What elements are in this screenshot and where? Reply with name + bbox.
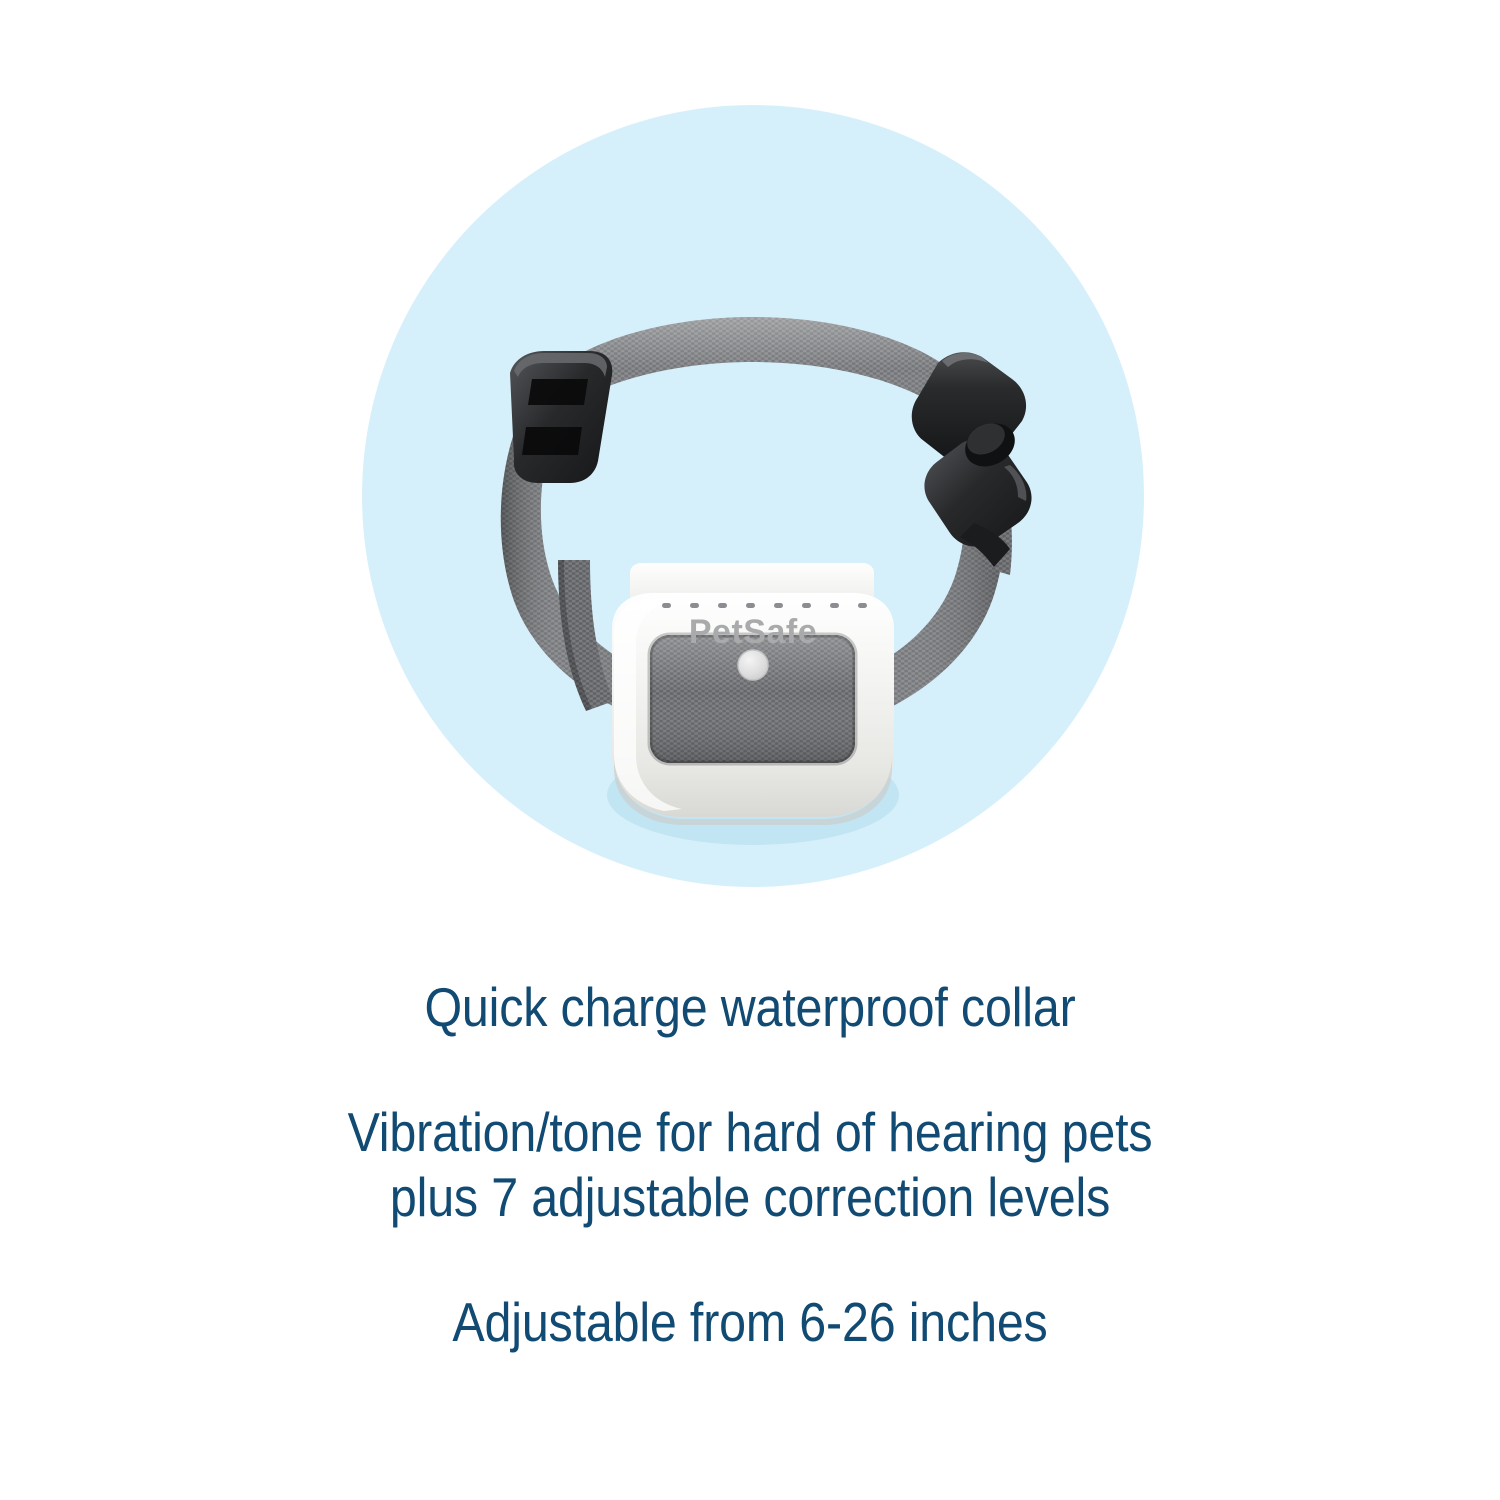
receiver-unit: PetSafe: [607, 563, 899, 845]
hero-product-image: PetSafe: [0, 0, 1500, 960]
brand-label: PetSafe: [689, 613, 817, 651]
collar-product-illustration: PetSafe: [362, 105, 1144, 887]
tri-glide-slider-buckle: [510, 351, 612, 483]
feature-item-quick-charge: Quick charge waterproof collar: [90, 975, 1410, 1040]
side-release-buckle: [912, 352, 1032, 567]
feature-item-vibration-tone: Vibration/tone for hard of hearing pets …: [90, 1100, 1410, 1230]
feature-list: Quick charge waterproof collar Vibration…: [0, 975, 1500, 1355]
product-feature-page: PetSafe: [0, 0, 1500, 1500]
feature-item-adjustable-size: Adjustable from 6-26 inches: [90, 1290, 1410, 1355]
